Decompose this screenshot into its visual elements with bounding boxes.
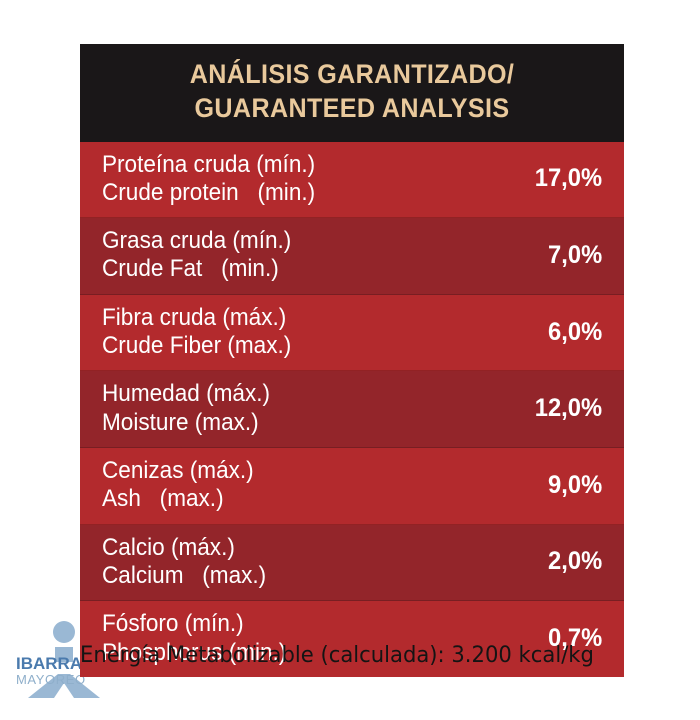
table-row: Grasa cruda (mín.) Crude Fat (min.) 7,0%	[80, 218, 624, 295]
row-labels: Calcio (máx.) Calcium (max.)	[102, 534, 277, 591]
nutrient-label-es: Grasa cruda (mín.)	[102, 227, 291, 255]
nutrient-label-en: Crude Fiber (max.)	[102, 332, 291, 360]
metabolizable-energy-text: Energía Metabolizable (calculada): 3.200…	[80, 643, 594, 668]
nutrient-label-es: Calcio (máx.)	[102, 534, 266, 562]
guaranteed-analysis-panel: ANÁLISIS GARANTIZADO/ GUARANTEED ANALYSI…	[80, 44, 624, 677]
nutrient-value: 9,0%	[548, 471, 606, 500]
nutrient-value: 7,0%	[548, 241, 606, 270]
nutrient-label-en: Calcium (max.)	[102, 562, 266, 590]
row-labels: Grasa cruda (mín.) Crude Fat (min.)	[102, 227, 303, 284]
nutrient-label-en: Moisture (max.)	[102, 409, 270, 437]
analysis-rows: Proteína cruda (mín.) Crude protein (min…	[80, 142, 624, 677]
table-row: Fibra cruda (máx.) Crude Fiber (max.) 6,…	[80, 295, 624, 372]
nutrient-label-es: Cenizas (máx.)	[102, 457, 254, 485]
table-row: Cenizas (máx.) Ash (max.) 9,0%	[80, 448, 624, 525]
panel-header-line-en: GUARANTEED ANALYSIS	[108, 92, 595, 126]
nutrient-label-es: Humedad (máx.)	[102, 380, 270, 408]
nutrient-value: 2,0%	[548, 547, 606, 576]
nutrient-label-en: Ash (max.)	[102, 485, 254, 513]
logo-tagline-text: MAYOREO	[16, 672, 86, 687]
table-row: Proteína cruda (mín.) Crude protein (min…	[80, 142, 624, 219]
nutrient-label-en: Crude Fat (min.)	[102, 255, 291, 283]
panel-header: ANÁLISIS GARANTIZADO/ GUARANTEED ANALYSI…	[80, 44, 624, 142]
table-row: Calcio (máx.) Calcium (max.) 2,0%	[80, 525, 624, 602]
row-labels: Humedad (máx.) Moisture (max.)	[102, 380, 281, 437]
row-labels: Cenizas (máx.) Ash (max.)	[102, 457, 263, 514]
row-labels: Fibra cruda (máx.) Crude Fiber (max.)	[102, 304, 303, 361]
nutrient-label-es: Fósforo (mín.)	[102, 610, 286, 638]
row-labels: Proteína cruda (mín.) Crude protein (min…	[102, 151, 329, 208]
nutrient-label-es: Fibra cruda (máx.)	[102, 304, 291, 332]
nutrient-value: 17,0%	[535, 164, 606, 193]
table-row: Humedad (máx.) Moisture (max.) 12,0%	[80, 371, 624, 448]
nutrient-value: 12,0%	[535, 394, 606, 423]
panel-header-line-es: ANÁLISIS GARANTIZADO/	[108, 58, 595, 92]
nutrient-label-es: Proteína cruda (mín.)	[102, 151, 315, 179]
nutrient-value: 6,0%	[548, 318, 606, 347]
logo-brand-text: IBARRA	[16, 654, 82, 673]
nutrient-label-en: Crude protein (min.)	[102, 179, 315, 207]
